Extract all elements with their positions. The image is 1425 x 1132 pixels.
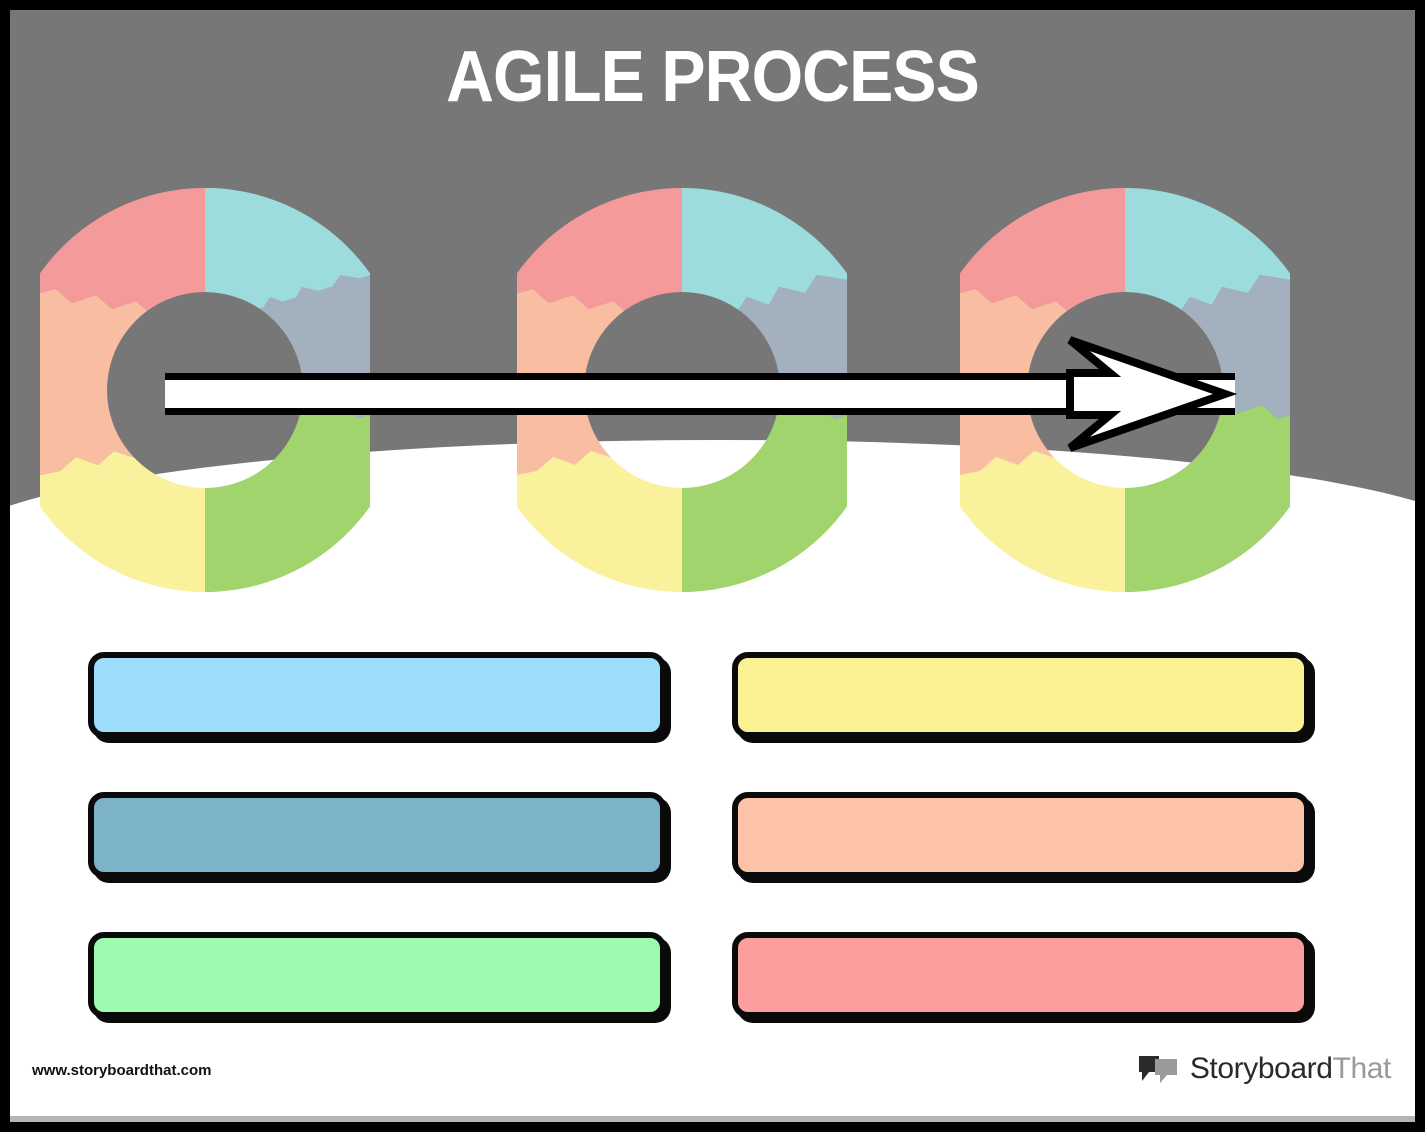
segment-peach-3 [960,289,1125,475]
segment-green-3 [1125,385,1290,595]
wheel-hub-1 [107,292,303,488]
segment-green-1 [205,385,370,595]
text-bar-2-surface[interactable] [732,652,1310,738]
footer: www.storyboardthat.com StoryboardThat [10,1036,1415,1122]
agile-wheel-3-graphic [960,175,1290,595]
segment-green-2 [682,385,847,595]
content-bars [10,610,1415,1050]
text-bar-2[interactable] [732,652,1310,738]
text-bar-3-surface[interactable] [88,792,666,878]
logo-text-secondary: That [1333,1052,1391,1085]
poster-inner-canvas: AGILE PROCESS [10,10,1415,1122]
text-bar-4[interactable] [732,792,1310,878]
segment-peach-1 [40,289,205,475]
agile-wheel-2[interactable] [517,175,847,595]
text-bar-6[interactable] [732,932,1310,1018]
text-bar-1-surface[interactable] [88,652,666,738]
text-bar-3[interactable] [88,792,666,878]
poster-canvas: AGILE PROCESS [0,0,1425,1132]
logo-text-primary: Storyboard [1190,1052,1333,1085]
footer-divider [10,1116,1415,1122]
agile-wheel-2-graphic [517,175,847,595]
speech-bubble-icon [1137,1054,1181,1084]
text-bar-6-surface[interactable] [732,932,1310,1018]
text-bar-4-surface[interactable] [732,792,1310,878]
agile-wheel-3[interactable] [960,175,1290,595]
text-bar-1[interactable] [88,652,666,738]
segment-peach-2 [517,289,682,475]
text-bar-5[interactable] [88,932,666,1018]
agile-wheel-1[interactable] [40,175,370,595]
page-title: AGILE PROCESS [66,36,1359,118]
logo-text: StoryboardThat [1190,1052,1391,1086]
text-bar-5-surface[interactable] [88,932,666,1018]
agile-wheel-1-graphic [40,175,370,595]
footer-url[interactable]: www.storyboardthat.com [32,1062,211,1079]
storyboardthat-logo[interactable]: StoryboardThat [1137,1052,1391,1086]
